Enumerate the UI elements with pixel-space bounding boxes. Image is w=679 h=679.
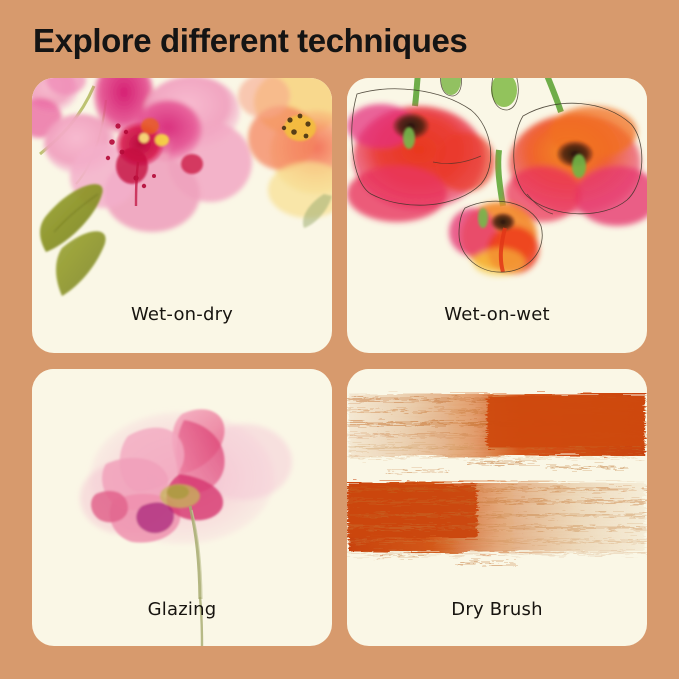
artwork-red-poppies <box>347 78 647 304</box>
card-label-glazing: Glazing <box>32 599 332 646</box>
artwork-dry-brush-strokes <box>347 369 647 599</box>
card-label-wet-on-wet: Wet-on-wet <box>347 304 647 353</box>
artwork-glazed-pink-flower <box>32 369 332 599</box>
technique-card-glazing[interactable]: Glazing <box>32 369 332 646</box>
technique-gallery-page: Explore different techniques <box>0 0 679 679</box>
technique-card-wet-on-dry[interactable]: Wet-on-dry <box>32 78 332 353</box>
artwork-pink-hibiscus <box>32 78 332 304</box>
technique-card-dry-brush[interactable]: Dry Brush <box>347 369 647 646</box>
card-label-wet-on-dry: Wet-on-dry <box>32 304 332 353</box>
technique-card-grid: Wet-on-dry <box>32 78 647 646</box>
card-label-dry-brush: Dry Brush <box>347 599 647 646</box>
technique-card-wet-on-wet[interactable]: Wet-on-wet <box>347 78 647 353</box>
page-title: Explore different techniques <box>33 22 467 60</box>
